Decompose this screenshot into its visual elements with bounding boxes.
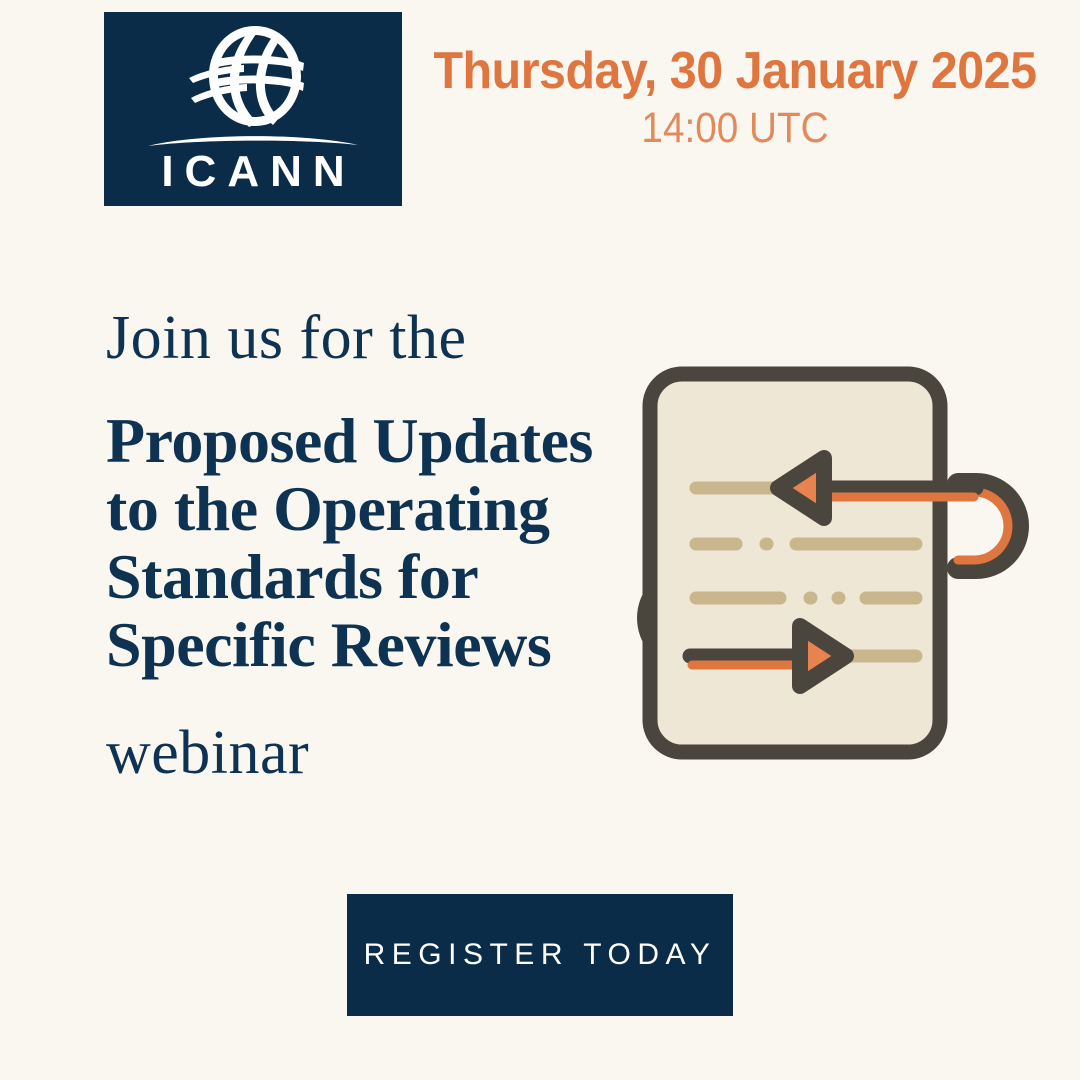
event-time: 14:00 UTC [443, 103, 1028, 155]
lead-in-text: Join us for the [106, 304, 666, 373]
event-datetime: Thursday, 30 January 2025 14:00 UTC [410, 44, 1060, 155]
document-review-cycle-illustration [628, 366, 1038, 766]
logo-wordmark: ICANN [150, 150, 355, 194]
poster-canvas: ICANN Thursday, 30 January 2025 14:00 UT… [0, 0, 1080, 1080]
lead-out-text: webinar [106, 719, 666, 788]
globe-icon [189, 22, 317, 134]
document-shape [650, 374, 940, 752]
page-title: Proposed Updates to the Operating Standa… [106, 407, 666, 678]
icann-logo: ICANN [104, 12, 402, 206]
headline-block: Join us for the Proposed Updates to the … [106, 304, 666, 788]
register-today-button[interactable]: REGISTER TODAY [347, 894, 733, 1016]
event-date: Thursday, 30 January 2025 [433, 44, 1038, 99]
swoosh-icon [148, 132, 358, 148]
